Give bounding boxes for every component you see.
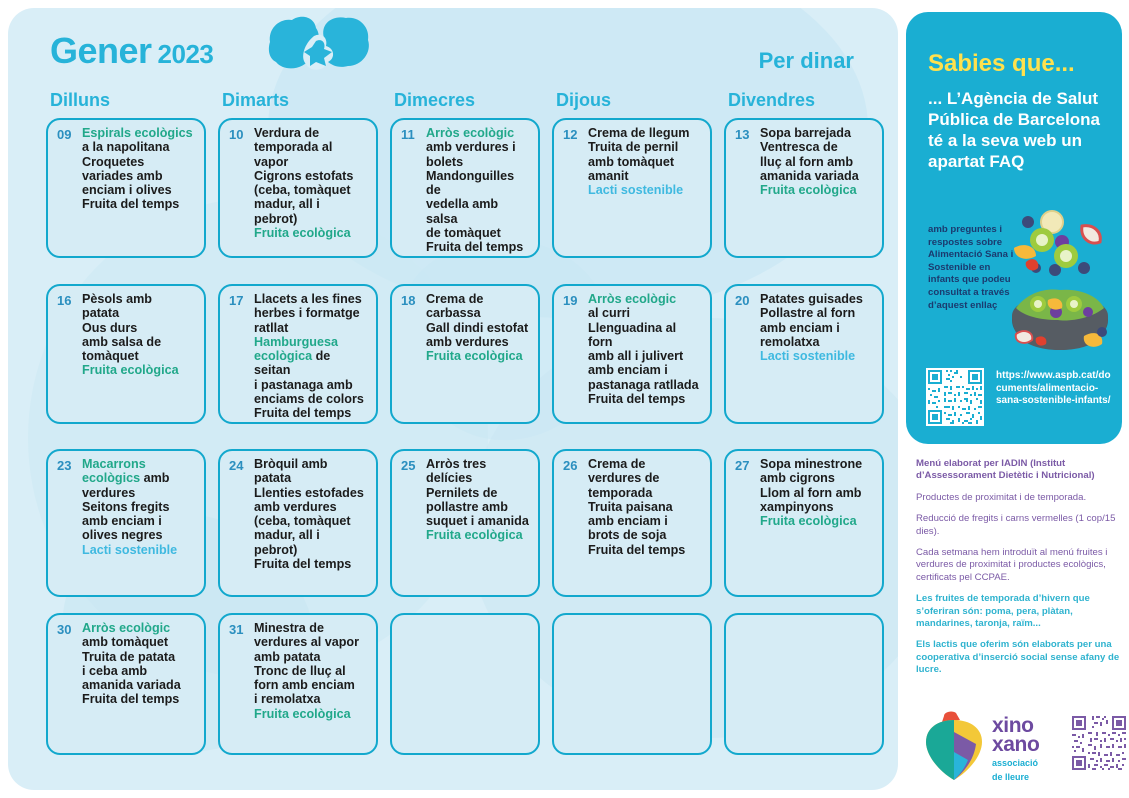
menu-line: amb tomàquet (82, 635, 197, 649)
day-cell-20: 20Patates guisadesPollastre al fornamb e… (724, 284, 884, 424)
day-cell-26: 26Crema deverdures detemporadaTruita pai… (552, 449, 712, 597)
menu-line: Ventresca de (760, 140, 875, 154)
logo-line-2: xano (992, 735, 1039, 754)
menu-items: Sopa minestroneamb cigronsLlom al forn a… (760, 457, 875, 528)
day-cell-27: 27Sopa minestroneamb cigronsLlom al forn… (724, 449, 884, 597)
menu-line: Fruita del temps (254, 557, 369, 571)
menu-line: amb patata (254, 650, 369, 664)
menu-line: Fruita del temps (588, 392, 703, 406)
menu-line: amb enciam i (760, 321, 875, 335)
day-name-dimecres: Dimecres (394, 90, 475, 111)
day-number: 11 (401, 127, 423, 142)
menu-line: amanida variada (760, 169, 875, 183)
menu-line: Espirals ecològics (82, 126, 197, 140)
menu-line: remolatxa (760, 335, 875, 349)
menu-line: Bròquil amb (254, 457, 369, 471)
day-number: 12 (563, 127, 585, 142)
menu-items: Arròs ecològicamb verdures iboletsMandon… (426, 126, 531, 255)
day-cell-13: 13Sopa barrejadaVentresca delluç al forn… (724, 118, 884, 258)
aspb-qr-row[interactable]: https://www.aspb.cat/documents/alimentac… (926, 368, 1112, 430)
menu-line: Verdura de (254, 126, 369, 140)
menu-line: tomàquet (82, 349, 197, 363)
menu-line: amb enciam i (588, 363, 703, 377)
menu-line: Lacti sostenible (760, 349, 875, 363)
note-6: Els lactis que oferim són elaborats per … (916, 639, 1122, 676)
day-cell-empty (552, 613, 712, 755)
menu-line: Minestra de (254, 621, 369, 635)
day-number: 17 (229, 293, 251, 308)
day-cell-empty (390, 613, 540, 755)
day-cell-31: 31Minestra deverdures al vaporamb patata… (218, 613, 378, 755)
menu-line: pollastre amb (426, 500, 531, 514)
menu-line: vedella amb salsa (426, 197, 531, 226)
year-label: 2023 (158, 39, 214, 69)
day-number: 10 (229, 127, 251, 142)
day-number: 20 (735, 293, 757, 308)
day-cell-30: 30Arròs ecològicamb tomàquetTruita de pa… (46, 613, 206, 755)
menu-line: Macarrons (82, 457, 197, 471)
day-number: 30 (57, 622, 79, 637)
xino-xano-wordmark: xino xano associació de lleure (992, 716, 1039, 782)
logo-sub-1: associació (992, 758, 1039, 768)
menu-line: Fruita ecològica (760, 183, 875, 197)
day-cell-23: 23Macarronsecològics ambverduresSeitons … (46, 449, 206, 597)
xino-xano-logo-row: xino xano associació de lleure (922, 708, 1122, 794)
menu-line: Llom al forn amb (760, 486, 875, 500)
menu-line: verdures de (588, 471, 703, 485)
menu-items: Arròs ecològicamb tomàquetTruita de pata… (82, 621, 197, 707)
menu-line-plain-part: amb (144, 471, 170, 485)
day-cell-11: 11Arròs ecològicamb verdures iboletsMand… (390, 118, 540, 258)
month-label: Gener (50, 30, 152, 71)
note-3: Reducció de fregits i carns vermelles (1… (916, 513, 1122, 538)
menu-line: amanida variada (82, 678, 197, 692)
menu-line: a la napolitana (82, 140, 197, 154)
menu-line: Truita de patata (82, 650, 197, 664)
menu-line: Fruita ecològica (760, 514, 875, 528)
broccoli-vegetable-icon (266, 14, 374, 76)
day-cell-12: 12Crema de llegumTruita de pernilamb tom… (552, 118, 712, 258)
menu-line-eco-part: ecològics (82, 471, 144, 485)
menu-items: Arròs tres delíciesPernilets depollastre… (426, 457, 531, 543)
menu-line: pebrot) (254, 212, 369, 226)
menu-line: Arròs ecològic (588, 292, 703, 306)
menu-line-eco-part: ecològica (254, 349, 316, 363)
menu-line: Fruita del temps (82, 692, 197, 706)
menu-line: amb tomàquet (588, 155, 703, 169)
day-number: 18 (401, 293, 423, 308)
menu-line: Pollastre al forn (760, 306, 875, 320)
day-number: 09 (57, 127, 79, 142)
menu-items: Sopa barrejadaVentresca delluç al forn a… (760, 126, 875, 197)
menu-line: amb verdures (426, 335, 531, 349)
calendar-header: Gener2023 Per dinar (8, 8, 898, 80)
note-2: Productes de proximitat i de temporada. (916, 492, 1122, 504)
day-number: 25 (401, 458, 423, 473)
menu-items: Pèsols ambpatataOus dursamb salsa detomà… (82, 292, 197, 378)
menu-line: Llenguadina al forn (588, 321, 703, 350)
did-you-know-title: Sabies que... (928, 50, 1075, 78)
menu-items: Bròquil ambpatataLlenties estofadesamb v… (254, 457, 369, 571)
menu-line: Fruita ecològica (254, 707, 369, 721)
menu-line: amb verdures (254, 500, 369, 514)
menu-line: pastanaga ratllada (588, 378, 703, 392)
menu-line: Arròs ecològic (82, 621, 197, 635)
menu-items: Macarronsecològics ambverduresSeitons fr… (82, 457, 197, 557)
note-5: Les fruites de temporada d’hivern que s’… (916, 593, 1122, 630)
day-cell-24: 24Bròquil ambpatataLlenties estofadesamb… (218, 449, 378, 597)
menu-line: Fruita del temps (254, 406, 369, 420)
day-cell-16: 16Pèsols ambpatataOus dursamb salsa deto… (46, 284, 206, 424)
menu-line: Llacets a les fines (254, 292, 369, 306)
logo-sub-2: de lleure (992, 772, 1039, 782)
day-name-row: DillunsDimartsDimecresDijousDivendres (8, 90, 898, 116)
menu-line: amb enciam i (82, 514, 197, 528)
menu-line: Ous durs (82, 321, 197, 335)
menu-line: Fruita del temps (588, 543, 703, 557)
menu-line: ecològica de seitan (254, 349, 369, 378)
menu-line: enciam i olives (82, 183, 197, 197)
menu-line: amb enciam i (588, 514, 703, 528)
menu-line: i remolatxa (254, 692, 369, 706)
menu-line: Fruita del temps (426, 240, 531, 254)
menu-line: amb all i julivert (588, 349, 703, 363)
menu-items: Minestra deverdures al vaporamb patataTr… (254, 621, 369, 721)
menu-line: Tronc de lluç al (254, 664, 369, 678)
menu-line: Crema de (426, 292, 531, 306)
menu-line: Lacti sostenible (82, 543, 197, 557)
menu-line: variades amb (82, 169, 197, 183)
day-cell-17: 17Llacets a les finesherbes i formatgera… (218, 284, 378, 424)
day-cell-10: 10Verdura detemporada alvaporCigrons est… (218, 118, 378, 258)
menu-line: Pèsols amb (82, 292, 197, 306)
menu-line: forn amb enciam (254, 678, 369, 692)
day-cell-18: 18Crema decarbassaGall dindi estofatamb … (390, 284, 540, 424)
menu-line: pebrot) (254, 543, 369, 557)
menu-line: Crema de (588, 457, 703, 471)
menu-line: amb salsa de (82, 335, 197, 349)
note-1: Menú elaborat per IADIN (Institut d’Asse… (916, 458, 1122, 483)
menu-line: Lacti sostenible (588, 183, 703, 197)
menu-line: Fruita del temps (82, 197, 197, 211)
menu-line: Hamburguesa (254, 335, 369, 349)
fruit-salad-bowl-icon (1000, 208, 1120, 358)
menu-items: Crema decarbassaGall dindi estofatamb ve… (426, 292, 531, 363)
day-number: 24 (229, 458, 251, 473)
menu-line: Arròs tres delícies (426, 457, 531, 486)
day-cell-19: 19Arròs ecològical curriLlenguadina al f… (552, 284, 712, 424)
menu-items: Patates guisadesPollastre al fornamb enc… (760, 292, 875, 363)
menu-line: patata (254, 471, 369, 485)
day-number: 13 (735, 127, 757, 142)
menu-line: amanit (588, 169, 703, 183)
menu-line: Fruita ecològica (426, 528, 531, 542)
menu-line: enciams de colors (254, 392, 369, 406)
menu-line: Gall dindi estofat (426, 321, 531, 335)
menu-line: amb cigrons (760, 471, 875, 485)
menu-line: olives negres (82, 528, 197, 542)
menu-line: herbes i formatge (254, 306, 369, 320)
menu-line: madur, all i (254, 528, 369, 542)
menu-line: verdures (82, 486, 197, 500)
menu-line: ratllat (254, 321, 369, 335)
menu-line: vapor (254, 155, 369, 169)
menu-items: Llacets a les finesherbes i formatgeratl… (254, 292, 369, 421)
menu-poster: Gener2023 Per dinar DillunsDimartsDimecr… (0, 0, 1129, 798)
menu-line: Sopa barrejada (760, 126, 875, 140)
day-cell-09: 09Espirals ecològicsa la napolitanaCroqu… (46, 118, 206, 258)
day-cell-25: 25Arròs tres delíciesPernilets depollast… (390, 449, 540, 597)
menu-items: Arròs ecològical curriLlenguadina al for… (588, 292, 703, 406)
menu-line: (ceba, tomàquet (254, 183, 369, 197)
menu-line: Sopa minestrone (760, 457, 875, 471)
did-you-know-body: ... L’Agència de Salut Pública de Barcel… (928, 88, 1100, 172)
menu-line: carbassa (426, 306, 531, 320)
menu-line: lluç al forn amb (760, 155, 875, 169)
menu-line: Seitons fregits (82, 500, 197, 514)
menu-line: temporada al (254, 140, 369, 154)
day-number: 26 (563, 458, 585, 473)
calendar-panel: Gener2023 Per dinar DillunsDimartsDimecr… (8, 8, 898, 790)
menu-line: Patates guisades (760, 292, 875, 306)
qr-code-icon[interactable] (1070, 714, 1128, 772)
menu-line: Fruita ecològica (426, 349, 531, 363)
menu-line: verdures al vapor (254, 635, 369, 649)
menu-line: suquet i amanida (426, 514, 531, 528)
day-name-dijous: Dijous (556, 90, 611, 111)
menu-items: Espirals ecològicsa la napolitanaCroquet… (82, 126, 197, 212)
did-you-know-card: Sabies que... ... L’Agència de Salut Púb… (906, 12, 1122, 444)
menu-line: ecològics amb (82, 471, 197, 485)
day-name-divendres: Divendres (728, 90, 815, 111)
menu-line: Truita de pernil (588, 140, 703, 154)
day-number: 19 (563, 293, 585, 308)
notes-list: Menú elaborat per IADIN (Institut d’Asse… (916, 458, 1122, 686)
menu-line: Pernilets de (426, 486, 531, 500)
menu-line: i pastanaga amb (254, 378, 369, 392)
menu-line: madur, all i (254, 197, 369, 211)
spinning-top-logo-icon (922, 710, 988, 782)
day-name-dilluns: Dilluns (50, 90, 110, 111)
menu-items: Crema de llegumTruita de pernilamb tomàq… (588, 126, 703, 197)
menu-line: (ceba, tomàquet (254, 514, 369, 528)
menu-line: i ceba amb (82, 664, 197, 678)
menu-line: Fruita ecològica (254, 226, 369, 240)
menu-line: brots de soja (588, 528, 703, 542)
menu-line: patata (82, 306, 197, 320)
menu-line: Arròs ecològic (426, 126, 531, 140)
menu-line: Crema de llegum (588, 126, 703, 140)
sidebar: Sabies que... ... L’Agència de Salut Púb… (906, 8, 1122, 790)
menu-line: xampinyons (760, 500, 875, 514)
menu-items: Crema deverdures detemporadaTruita paisa… (588, 457, 703, 557)
menu-line: Mandonguilles de (426, 169, 531, 198)
page-title: Gener2023 (50, 30, 213, 72)
menu-line: bolets (426, 155, 531, 169)
meal-label: Per dinar (759, 48, 854, 74)
menu-items: Verdura detemporada alvaporCigrons estof… (254, 126, 369, 240)
menu-line: Croquetes (82, 155, 197, 169)
menu-line: temporada (588, 486, 703, 500)
day-number: 23 (57, 458, 79, 473)
menu-line: de tomàquet (426, 226, 531, 240)
menu-line: Llenties estofades (254, 486, 369, 500)
menu-line: al curri (588, 306, 703, 320)
menu-line: Cigrons estofats (254, 169, 369, 183)
day-name-dimarts: Dimarts (222, 90, 289, 111)
day-number: 31 (229, 622, 251, 637)
note-4: Cada setmana hem introduït al menú fruit… (916, 547, 1122, 584)
day-number: 27 (735, 458, 757, 473)
menu-line: Truita paisana (588, 500, 703, 514)
menu-line: Fruita ecològica (82, 363, 197, 377)
day-number: 16 (57, 293, 79, 308)
qr-code-icon[interactable] (926, 368, 984, 426)
aspb-url[interactable]: https://www.aspb.cat/documents/alimentac… (996, 370, 1114, 408)
day-cell-empty (724, 613, 884, 755)
menu-line: amb verdures i (426, 140, 531, 154)
